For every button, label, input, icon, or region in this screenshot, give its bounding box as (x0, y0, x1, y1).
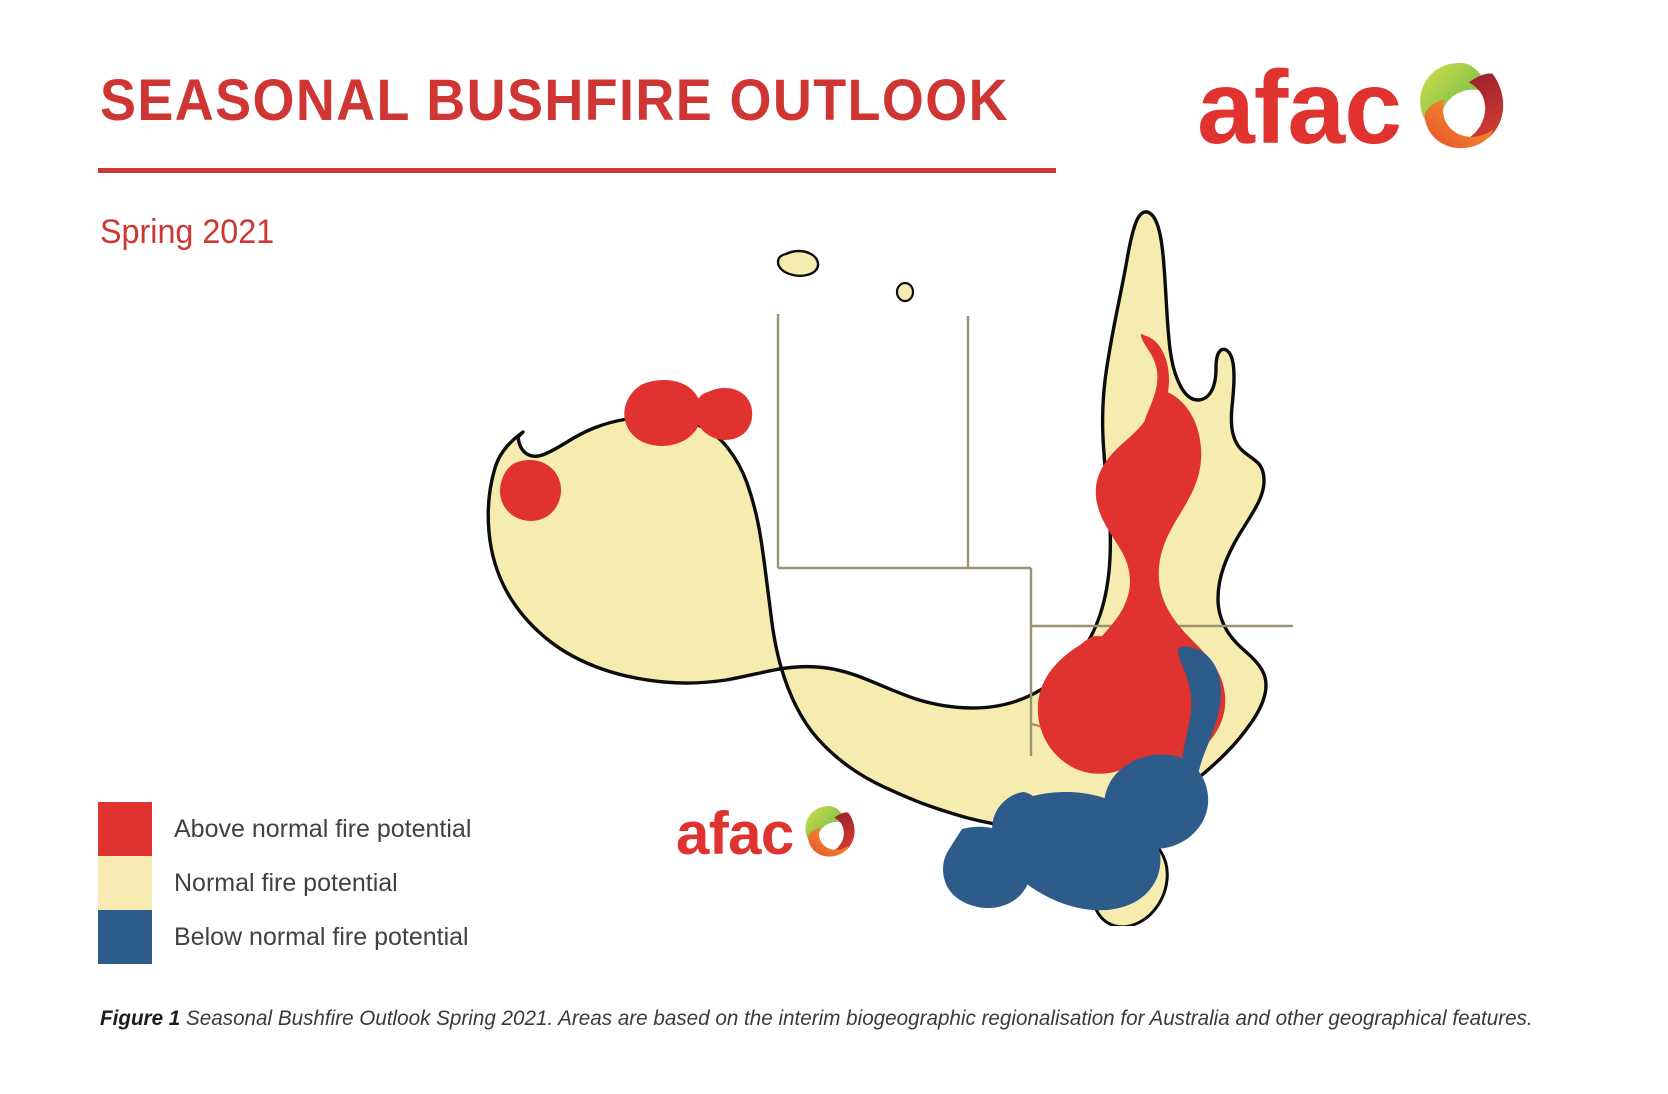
afac-logo-watermark: afac (676, 806, 858, 860)
legend-swatch-below-normal (98, 910, 152, 964)
legend-item: Above normal fire potential (98, 802, 471, 856)
afac-wordmark-watermark: afac (676, 811, 794, 856)
legend-label-normal: Normal fire potential (174, 871, 398, 896)
legend-item: Normal fire potential (98, 856, 471, 910)
legend-item: Below normal fire potential (98, 910, 471, 964)
red-wa-kimberley (624, 380, 701, 446)
red-wa-pilbara (500, 460, 561, 521)
legend-swatch-normal (98, 856, 152, 910)
australia-map-visible (405, 196, 1345, 926)
title-divider (98, 168, 1056, 173)
legend-label-above-normal: Above normal fire potential (174, 817, 471, 842)
fire-potential-legend: Above normal fire potential Normal fire … (98, 802, 471, 964)
seasonal-bushfire-outlook-page: SEASONAL BUSHFIRE OUTLOOK Spring 2021 af… (0, 0, 1668, 1094)
figure-caption-text: Seasonal Bushfire Outlook Spring 2021. A… (180, 1006, 1532, 1030)
afac-logo-header: afac (1197, 62, 1509, 154)
afac-swirl-icon-watermark (800, 802, 858, 860)
page-title: SEASONAL BUSHFIRE OUTLOOK (100, 72, 1009, 130)
page-subtitle: Spring 2021 (100, 213, 274, 252)
afac-swirl-icon (1411, 56, 1509, 154)
legend-swatch-above-normal (98, 802, 152, 856)
groote-eylandt (897, 283, 913, 301)
figure-caption-label: Figure 1 (100, 1006, 180, 1030)
tiwi-islands (778, 251, 818, 276)
australia-map (405, 196, 1345, 926)
afac-wordmark: afac (1197, 69, 1401, 147)
legend-label-below-normal: Below normal fire potential (174, 925, 469, 950)
figure-caption: Figure 1 Seasonal Bushfire Outlook Sprin… (100, 1006, 1533, 1031)
